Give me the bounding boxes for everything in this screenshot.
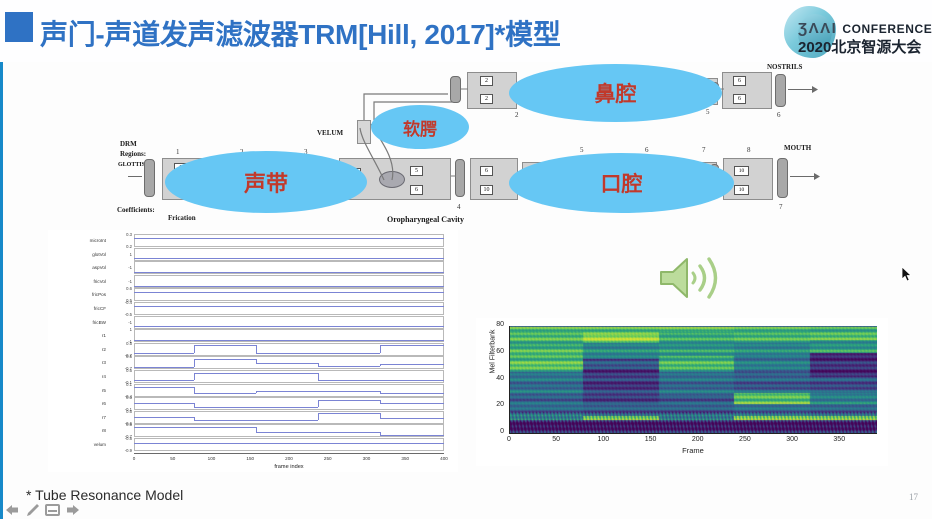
glottis-label: GLOTTIS [118, 162, 126, 169]
mel-y-tick-0: 0 [478, 428, 504, 435]
track-segment [256, 340, 318, 341]
track-transition [194, 345, 195, 353]
presentation-slide: 声门-声道发声滤波器TRM[Hill, 2017]*模型 ƷΛΛI CONFER… [0, 0, 932, 519]
drm-label: DRM [120, 140, 137, 148]
track-transition [194, 238, 195, 239]
page-number: 17 [909, 492, 918, 502]
track-transition [194, 258, 195, 259]
track-segment [194, 443, 256, 444]
frication-label: Frication [168, 214, 196, 222]
oral-coef-box-5b: 6 [410, 185, 423, 195]
track-segment [318, 326, 380, 327]
track-segment [194, 238, 256, 239]
track-segment [380, 306, 444, 307]
parameter-label-r2: r2 [48, 347, 106, 352]
track-segment [318, 258, 380, 259]
track-transition [256, 326, 257, 327]
nostril-valve [775, 74, 786, 107]
track-segment [256, 363, 318, 364]
mel-x-axis-label: Frame [509, 446, 877, 455]
trm-tube-diagram: 2 2 2 3 4 5 6 6 6 NOSTRILS DRM Regions: … [112, 58, 812, 233]
track-segment [194, 345, 256, 346]
track-segment [134, 403, 194, 404]
track-segment [134, 380, 194, 381]
mel-x-tick-50: 50 [552, 436, 560, 443]
mel-x-axis [509, 433, 877, 434]
track-transition [194, 340, 195, 341]
track-segment [318, 432, 380, 433]
track-segment [194, 326, 256, 327]
mel-x-tick-0: 0 [507, 436, 511, 443]
ytick-hi-r6: 0.5 [108, 395, 132, 400]
track-segment [194, 286, 256, 287]
oral-valve-4 [455, 159, 465, 197]
track-segment [380, 238, 444, 239]
parameter-label-r4: r4 [48, 374, 106, 379]
track-transition [194, 306, 195, 307]
track-transition [380, 340, 381, 341]
track-transition [256, 420, 257, 421]
pen-annotate-button[interactable] [25, 503, 40, 517]
track-transition [380, 286, 381, 287]
x-tick-300: 300 [363, 456, 371, 461]
track-segment [134, 367, 194, 368]
track-transition [318, 340, 319, 341]
track-segment [380, 272, 444, 273]
mouth-valve [777, 158, 788, 198]
nasal-coef-box-c: 6 [733, 76, 746, 86]
ytick-hi-velum: -0.8 [108, 436, 132, 441]
track-transition [380, 413, 381, 418]
track-transition [380, 306, 381, 307]
track-segment [256, 391, 318, 392]
track-segment [134, 387, 194, 388]
track-segment [194, 393, 256, 394]
track-transition [256, 238, 257, 239]
mel-heatmap-canvas [509, 326, 877, 433]
mel-y-tick-60: 60 [478, 348, 504, 355]
left-accent-rail [0, 0, 3, 519]
parameter-label-microInt: microInt [48, 238, 106, 243]
track-transition [194, 286, 195, 287]
next-slide-button[interactable] [65, 503, 82, 517]
x-tick-250: 250 [324, 456, 332, 461]
ytick-lo-microInt: 0.2 [108, 244, 132, 249]
track-transition [256, 373, 257, 374]
track-segment [134, 443, 194, 444]
glottis-in-wire [128, 176, 142, 177]
callout-nasal-cavity-label: 鼻腔 [595, 78, 637, 108]
track-transition [256, 292, 257, 293]
callout-soft-palate-label: 软腭 [403, 115, 437, 140]
callout-vocal-cords-label: 声带 [244, 166, 288, 198]
ytick-hi-microInt: 0.3 [108, 232, 132, 237]
ytick-aspVol: -1 [108, 265, 132, 270]
oral-coef-box-6a: 6 [480, 166, 493, 176]
ytick-hi-r5: 0.1 [108, 382, 132, 387]
track-transition [380, 364, 381, 367]
track-segment [134, 286, 194, 287]
track-transition [194, 373, 195, 380]
callout-oral-cavity-label: 口腔 [601, 168, 643, 198]
track-transition [380, 380, 381, 381]
track-transition [318, 292, 319, 293]
track-transition [380, 272, 381, 273]
track-segment [256, 306, 318, 307]
parameter-label-fricVol: fricVol [48, 279, 106, 284]
track-transition [194, 359, 195, 367]
track-segment [318, 272, 380, 273]
x-tick-200: 200 [285, 456, 293, 461]
track-segment [194, 420, 256, 421]
track-transition [256, 443, 257, 444]
oral-region-num-8: 8 [747, 146, 751, 154]
track-segment [380, 435, 444, 436]
ytick-hi-fricPos: 0.6 [108, 286, 132, 291]
mel-spectrogram-chart: Mel Filterbank 020406080 050100150200250… [476, 318, 888, 466]
track-segment [318, 400, 380, 401]
parameter-label-aspVol: aspVol [48, 265, 106, 270]
logo-baai-text: ƷΛΛI [798, 20, 837, 37]
nasal-valve-1 [450, 76, 461, 103]
ytick-glotVol: 1 [108, 252, 132, 257]
track-segment [256, 238, 318, 239]
parameter-label-r5: r5 [48, 388, 106, 393]
track-transition [318, 306, 319, 307]
ytick-hi-r7: 0.6 [108, 409, 132, 414]
ytick-hi-fricCF: -0.4 [108, 300, 132, 305]
track-segment [380, 345, 444, 346]
x-tick-0: 0 [133, 456, 136, 461]
drm-region-num-1: 1 [176, 148, 180, 156]
track-transition [318, 413, 319, 420]
track-transition [194, 387, 195, 394]
ytick-hi-r4: 0.6 [108, 368, 132, 373]
title-accent-square [5, 12, 33, 42]
track-segment [256, 258, 318, 259]
track-transition [380, 238, 381, 239]
oral-region-num-5: 5 [580, 146, 584, 154]
track-segment [380, 380, 444, 381]
track-segment [318, 391, 380, 392]
logo-conference-text: CONFERENCE [842, 22, 932, 36]
track-segment [194, 272, 256, 273]
x-tick-400: 400 [440, 456, 448, 461]
logo-chinese-text: 2020北京智源大会 [798, 36, 921, 57]
mel-y-tick-20: 20 [478, 401, 504, 408]
oropharyngeal-cavity-label: Oropharyngeal Cavity [387, 215, 464, 224]
track-segment [318, 366, 380, 367]
track-segment [380, 286, 444, 287]
track-segment [194, 427, 256, 428]
track-segment [318, 292, 380, 293]
baai-conference-logo: ƷΛΛI CONFERENCE 2020北京智源大会 [782, 4, 926, 60]
nasal-tube-section-6 [722, 72, 772, 109]
oral-region-num-7: 7 [702, 146, 706, 154]
track-segment [318, 286, 380, 287]
ytick-hi-r3: 0.5 [108, 354, 132, 359]
track-segment [194, 340, 256, 341]
track-transition [380, 326, 381, 327]
track-segment [318, 413, 380, 414]
track-segment [318, 380, 380, 381]
track-segment [380, 326, 444, 327]
track-segment [194, 407, 256, 408]
track-transition [380, 400, 381, 403]
ytick-fricVol: -1 [108, 279, 132, 284]
track-segment [318, 353, 380, 354]
track-transition [318, 258, 319, 259]
track-segment [134, 353, 194, 354]
slide-header: 声门-声道发声滤波器TRM[Hill, 2017]*模型 ƷΛΛI CONFER… [0, 0, 932, 62]
track-transition [256, 345, 257, 353]
track-segment [194, 292, 256, 293]
track-segment [256, 326, 318, 327]
track-transition [318, 373, 319, 380]
track-segment [380, 403, 444, 404]
track-segment [134, 272, 194, 273]
track-transition [318, 238, 319, 239]
track-segment [134, 427, 194, 428]
track-segment [380, 258, 444, 259]
track-segment [194, 359, 256, 360]
trm-parameter-chart: microInt0.30.2glotVol1aspVol-1fricVol-1f… [48, 230, 458, 472]
velum-label: VELUM [317, 129, 343, 137]
nasal-coef-box-b: 2 [480, 94, 493, 104]
track-segment [134, 238, 194, 239]
parameter-label-r6: r6 [48, 401, 106, 406]
nasal-coef-box-d: 6 [733, 94, 746, 104]
mel-y-tick-40: 40 [478, 375, 504, 382]
track-transition [256, 258, 257, 259]
track-transition [256, 306, 257, 307]
track-segment [380, 340, 444, 341]
track-transition [256, 272, 257, 273]
track-segment [380, 292, 444, 293]
footnote-text: * Tube Resonance Model [26, 487, 183, 503]
track-segment [134, 258, 194, 259]
previous-slide-button[interactable] [3, 503, 20, 517]
x-tick-150: 150 [246, 456, 254, 461]
slide-view-button[interactable] [45, 503, 60, 517]
track-segment [134, 292, 194, 293]
track-segment [194, 373, 256, 374]
oral-coef-box-10a: 10 [734, 166, 749, 176]
track-transition [194, 443, 195, 444]
ytick-fricBW: -1 [108, 320, 132, 325]
track-segment [256, 272, 318, 273]
nasal-region-num-2: 2 [515, 111, 519, 119]
track-segment [134, 340, 194, 341]
callout-nasal-cavity: 鼻腔 [509, 64, 722, 122]
parameter-track-fricCF [134, 302, 444, 315]
track-transition [194, 427, 195, 428]
track-segment [380, 364, 444, 365]
mouse-cursor [901, 266, 913, 288]
track-transition [318, 286, 319, 287]
track-transition [380, 292, 381, 293]
track-transition [318, 326, 319, 327]
track-transition [318, 391, 319, 392]
track-transition [380, 345, 381, 353]
track-segment [134, 417, 194, 418]
velum-port [357, 120, 371, 144]
track-transition [318, 432, 319, 433]
track-segment [380, 443, 444, 444]
track-segment [318, 443, 380, 444]
oral-coef-box-10b: 10 [734, 185, 749, 195]
track-segment [256, 407, 318, 408]
nostrils-arrow-icon [812, 86, 818, 93]
track-transition [318, 353, 319, 354]
parameter-label-fricPos: fricPos [48, 292, 106, 297]
track-transition [318, 400, 319, 407]
velum-junction-node [379, 171, 405, 188]
mouth-arrow-icon [814, 173, 820, 180]
nostrils-label: NOSTRILS [767, 63, 802, 71]
track-segment [256, 353, 318, 354]
mel-x-tick-100: 100 [598, 436, 610, 443]
parameter-label-r8: r8 [48, 428, 106, 433]
nasal-region-num-6: 6 [777, 111, 781, 119]
glottis-valve [144, 159, 155, 197]
track-transition [380, 258, 381, 259]
mel-y-axis [509, 326, 510, 433]
track-transition [318, 363, 319, 367]
x-tick-50: 50 [170, 456, 175, 461]
parameter-label-r3: r3 [48, 360, 106, 365]
nasal-coef-box-a: 2 [480, 76, 493, 86]
track-segment [256, 292, 318, 293]
page-title: 声门-声道发声滤波器TRM[Hill, 2017]*模型 [40, 13, 561, 53]
mel-x-tick-150: 150 [645, 436, 657, 443]
mel-x-tick-350: 350 [833, 436, 845, 443]
track-transition [256, 286, 257, 287]
track-segment [134, 326, 194, 327]
mel-heatmap-plot [509, 326, 877, 433]
track-segment [194, 306, 256, 307]
track-transition [256, 427, 257, 432]
track-segment [380, 393, 444, 394]
track-transition [380, 391, 381, 393]
x-tick-350: 350 [401, 456, 409, 461]
track-transition [194, 272, 195, 273]
track-transition [256, 391, 257, 393]
nasal-region-num-5: 5 [706, 108, 710, 116]
mel-x-tick-200: 200 [692, 436, 704, 443]
track-transition [194, 292, 195, 293]
track-segment [380, 418, 444, 419]
parameter-chart-x-label: frame index [134, 464, 444, 470]
slide-navigation-bar[interactable] [3, 503, 82, 517]
track-transition [318, 272, 319, 273]
oral-region-num-4: 4 [457, 203, 461, 211]
mel-y-tick-80: 80 [478, 321, 504, 328]
ytick-lo-velum: -0.9 [108, 448, 132, 453]
parameter-chart-x-axis [134, 453, 444, 454]
nostrils-output-wire [788, 89, 816, 90]
parameter-label-r7: r7 [48, 415, 106, 420]
parameter-label-fricBW: fricBW [48, 320, 106, 325]
regions-label: Regions: [120, 150, 146, 158]
parameter-track-velum [134, 438, 444, 451]
parameter-track-microInt [134, 234, 444, 247]
mouth-label: MOUTH [784, 144, 811, 152]
track-transition [256, 340, 257, 341]
callout-oral-cavity: 口腔 [509, 153, 734, 213]
track-segment [256, 286, 318, 287]
track-segment [134, 306, 194, 307]
track-transition [194, 403, 195, 408]
mel-x-tick-300: 300 [786, 436, 798, 443]
ytick-hi-r8: 0.5 [108, 422, 132, 427]
track-transition [380, 432, 381, 435]
x-tick-100: 100 [208, 456, 216, 461]
parameter-label-velum: velum [48, 442, 106, 447]
parameter-label-glotVol: glotVol [48, 252, 106, 257]
track-segment [256, 432, 318, 433]
track-transition [380, 443, 381, 444]
volume-speaker-icon[interactable] [655, 252, 723, 309]
track-segment [256, 420, 318, 421]
parameter-label-fricCF: fricCF [48, 306, 106, 311]
oral-coef-box-5a: 5 [410, 166, 423, 176]
track-transition [256, 407, 257, 408]
track-segment [194, 258, 256, 259]
callout-vocal-cords: 声带 [165, 151, 367, 213]
callout-soft-palate: 软腭 [371, 105, 469, 149]
coefficients-label: Coefficients: [117, 206, 155, 214]
ytick-hi-r1: 1 [108, 327, 132, 332]
track-segment [256, 373, 318, 374]
mouth-region-num: 7 [779, 203, 783, 211]
track-segment [318, 306, 380, 307]
mouth-output-wire [790, 176, 818, 177]
track-transition [256, 359, 257, 362]
track-segment [256, 443, 318, 444]
track-transition [318, 443, 319, 444]
ytick-hi-r2: 0.5 [108, 341, 132, 346]
track-transition [194, 326, 195, 327]
parameter-track-fricPos [134, 288, 444, 301]
track-segment [318, 340, 380, 341]
track-transition [194, 417, 195, 421]
ytick-lo-fricCF: -0.5 [108, 312, 132, 317]
oral-coef-box-6b: 10 [480, 185, 493, 195]
parameter-label-r1: r1 [48, 333, 106, 338]
mel-x-tick-250: 250 [739, 436, 751, 443]
track-segment [318, 238, 380, 239]
